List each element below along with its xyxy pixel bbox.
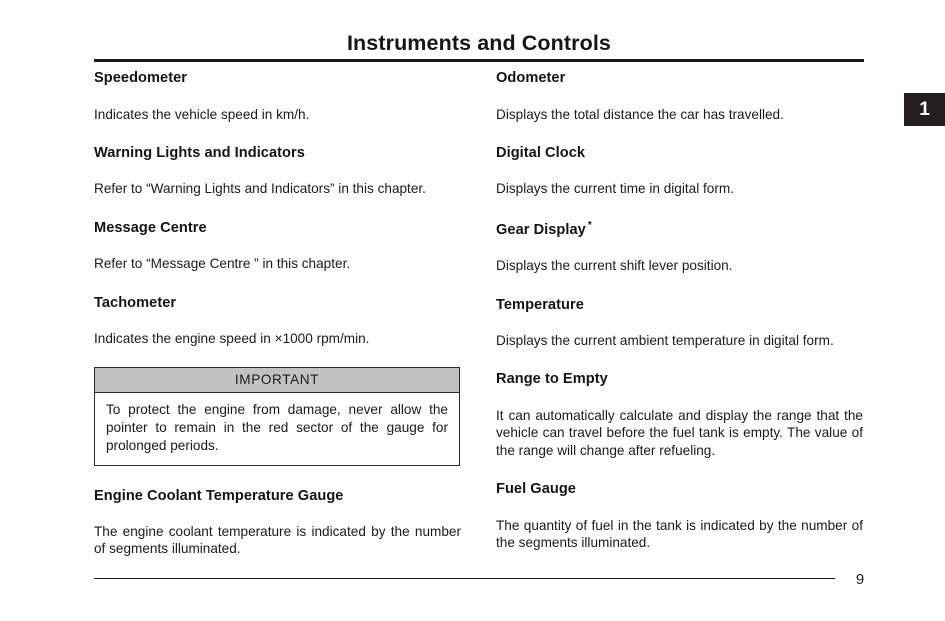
right-column: Odometer Displays the total distance the…: [496, 70, 863, 551]
section-body-fuel-gauge: The quantity of fuel in the tank is indi…: [496, 517, 863, 552]
section-heading-odometer-text: Odometer: [496, 70, 565, 86]
section-body-tachometer: Indicates the engine speed in ×1000 rpm/…: [94, 330, 461, 347]
title-divider: [94, 59, 864, 62]
section-heading-range-to-empty-text: Range to Empty: [496, 371, 608, 387]
section-heading-digital-clock-text: Digital Clock: [496, 145, 585, 161]
section-heading-range-to-empty: Range to Empty: [496, 371, 863, 389]
section-heading-temperature-text: Temperature: [496, 297, 584, 313]
section-body-temperature: Displays the current ambient temperature…: [496, 332, 863, 349]
left-column: Speedometer Indicates the vehicle speed …: [94, 70, 461, 558]
section-heading-tachometer: Tachometer: [94, 295, 461, 313]
important-callout: IMPORTANT To protect the engine from dam…: [94, 367, 460, 466]
manual-page: Instruments and Controls 1 Speedometer I…: [0, 0, 945, 621]
section-body-speedometer: Indicates the vehicle speed in km/h.: [94, 106, 461, 123]
section-heading-fuel-gauge: Fuel Gauge: [496, 481, 863, 499]
section-heading-temperature: Temperature: [496, 297, 863, 315]
section-heading-message-centre: Message Centre: [94, 220, 461, 238]
section-body-odometer: Displays the total distance the car has …: [496, 106, 863, 123]
important-callout-body: To protect the engine from damage, never…: [95, 393, 459, 465]
section-body-gear-display: Displays the current shift lever positio…: [496, 257, 863, 274]
section-heading-warning-lights: Warning Lights and Indicators: [94, 145, 461, 163]
section-body-range-to-empty: It can automatically calculate and displ…: [496, 407, 863, 459]
footer-divider: [94, 578, 835, 579]
section-heading-engine-coolant-temperature-gauge: Engine Coolant Temperature Gauge: [94, 488, 461, 506]
section-heading-gear-display: Gear Display*: [496, 220, 863, 239]
section-body-engine-coolant-temperature-gauge: The engine coolant temperature is indica…: [94, 523, 461, 558]
chapter-tab-label: 1: [919, 99, 930, 121]
section-heading-speedometer: Speedometer: [94, 70, 461, 88]
important-callout-header: IMPORTANT: [95, 368, 459, 393]
section-body-message-centre: Refer to “Message Centre ” in this chapt…: [94, 255, 461, 272]
section-body-warning-lights: Refer to “Warning Lights and Indicators”…: [94, 180, 461, 197]
section-heading-digital-clock: Digital Clock: [496, 145, 863, 163]
section-heading-gear-display-text: Gear Display: [496, 222, 586, 238]
page-number: 9: [845, 571, 875, 588]
page-title: Instruments and Controls: [94, 31, 864, 56]
section-heading-fuel-gauge-text: Fuel Gauge: [496, 481, 576, 497]
section-body-digital-clock: Displays the current time in digital for…: [496, 180, 863, 197]
section-heading-odometer: Odometer: [496, 70, 863, 88]
chapter-tab-1: 1: [904, 93, 945, 126]
footnote-asterisk-marker: *: [586, 220, 592, 231]
